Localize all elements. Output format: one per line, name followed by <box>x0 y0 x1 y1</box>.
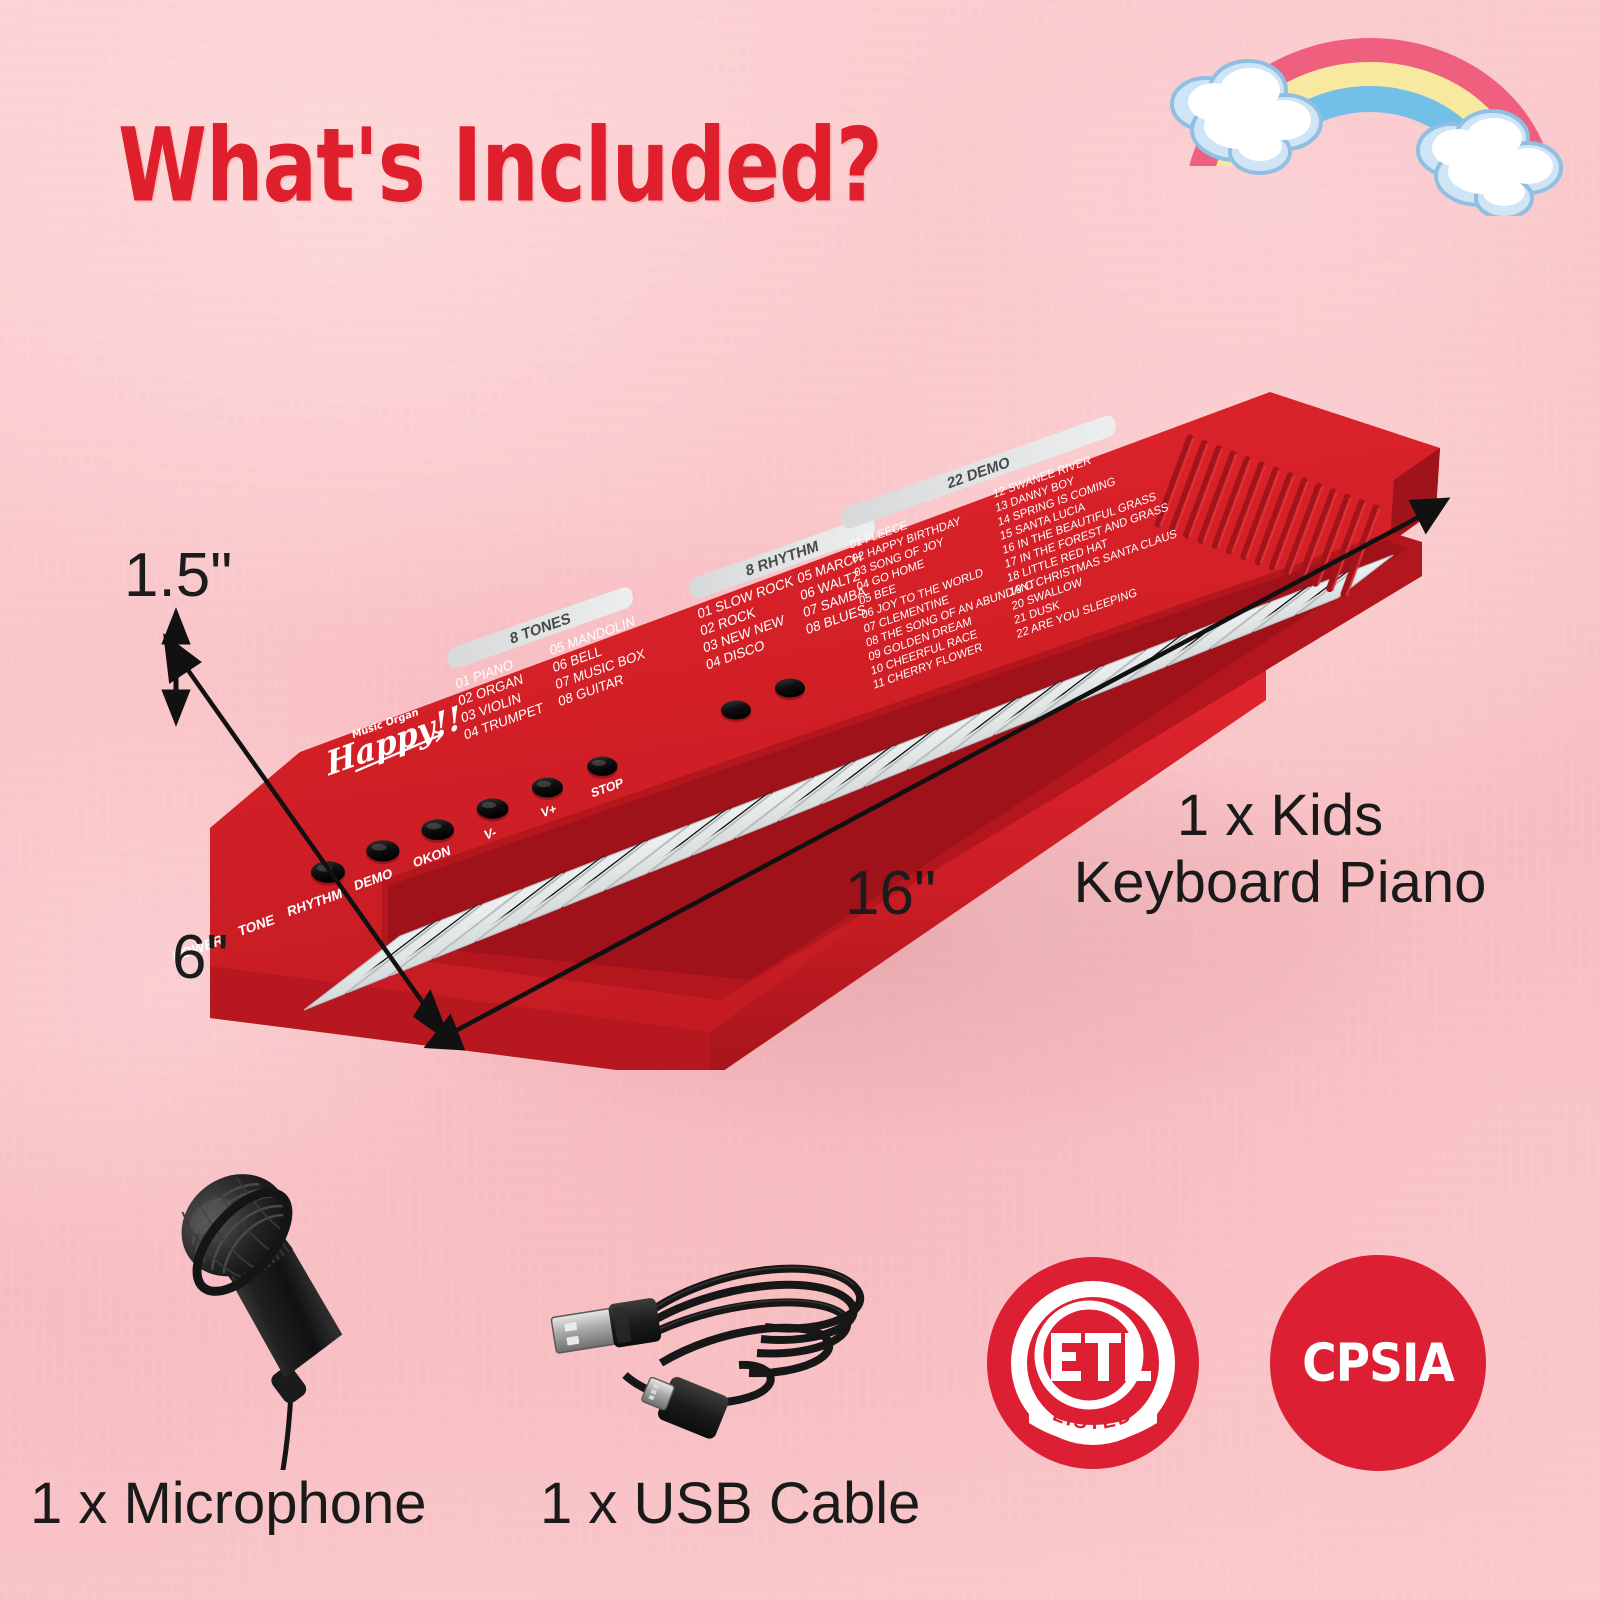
microphone-image <box>120 1140 480 1470</box>
etl-listed-badge: ® LISTED <box>985 1255 1201 1471</box>
cpsia-label: CPSIA <box>1302 1332 1454 1394</box>
usb-a-connector <box>550 1297 662 1357</box>
rainbow-icon <box>1140 26 1590 216</box>
microphone-cable <box>221 1396 344 1470</box>
control-button-vminus[interactable] <box>587 757 617 779</box>
control-button-rhythm[interactable] <box>421 819 454 843</box>
cloud-right-icon <box>1418 111 1561 216</box>
keyboard-item-line1: 1 x Kids <box>1040 782 1520 849</box>
control-button-power[interactable] <box>311 861 345 885</box>
microphone-item-label: 1 x Microphone <box>30 1470 430 1537</box>
etl-monogram-letters <box>1051 1333 1151 1381</box>
keyboard-item-line2: Keyboard Piano <box>1040 849 1520 916</box>
certification-badges: ® LISTED CPSIA <box>985 1255 1505 1485</box>
microphone-body-group <box>120 1150 439 1470</box>
page-title: What's Included? <box>118 106 882 225</box>
usb-cable-image <box>525 1215 885 1465</box>
control-button-okon[interactable] <box>532 777 563 800</box>
cpsia-badge: CPSIA <box>1270 1255 1486 1471</box>
control-button-demo[interactable] <box>477 798 509 821</box>
micro-usb-connector <box>637 1367 730 1440</box>
usb-cable-item-label: 1 x USB Cable <box>540 1470 960 1537</box>
dimension-height-label: 1.5" <box>124 540 232 611</box>
keyboard-item-label: 1 x Kids Keyboard Piano <box>1040 782 1520 917</box>
keyboard-illustration: 8 TONES 01 PIANO02 ORGAN03 VIOLIN04 TRUM… <box>150 180 1470 1070</box>
control-button-extra[interactable] <box>775 679 805 701</box>
dimension-width-label: 16" <box>845 858 936 929</box>
control-button-tone[interactable] <box>366 840 399 864</box>
dimension-depth-label: 6" <box>172 922 229 993</box>
control-button-extra[interactable] <box>721 701 751 723</box>
etl-registered-mark: ® <box>1155 1322 1168 1341</box>
keyboard-piano-image: 8 TONES 01 PIANO02 ORGAN03 VIOLIN04 TRUM… <box>150 180 1470 1070</box>
